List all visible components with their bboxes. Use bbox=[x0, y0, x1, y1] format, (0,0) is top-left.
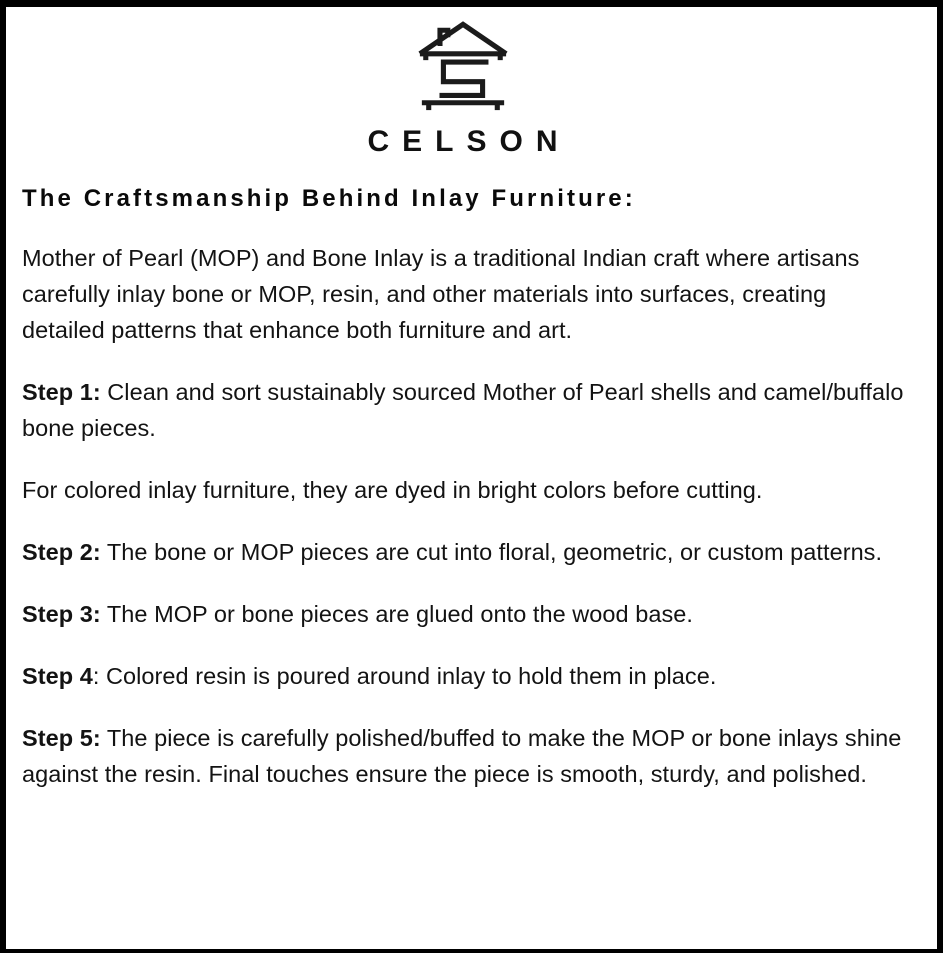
page-title: The Craftsmanship Behind Inlay Furniture… bbox=[22, 185, 909, 214]
poster-card: CELSON The Craftsmanship Behind Inlay Fu… bbox=[0, 0, 943, 953]
step-label-step-3: Step 3: bbox=[22, 601, 101, 627]
paragraph-step-4: Step 4: Colored resin is poured around i… bbox=[22, 658, 909, 694]
body-copy: Mother of Pearl (MOP) and Bone Inlay is … bbox=[22, 240, 909, 792]
step-label-step-1: Step 1: bbox=[22, 379, 101, 405]
step-label-step-2: Step 2: bbox=[22, 539, 101, 565]
paragraph-step-2: Step 2: The bone or MOP pieces are cut i… bbox=[22, 534, 909, 570]
paragraph-intro: Mother of Pearl (MOP) and Bone Inlay is … bbox=[22, 240, 909, 348]
paragraph-step-5: Step 5: The piece is carefully polished/… bbox=[22, 720, 909, 792]
brand-wordmark: CELSON bbox=[16, 127, 909, 157]
step-label-step-4: Step 4 bbox=[22, 663, 93, 689]
paragraph-step-3: Step 3: The MOP or bone pieces are glued… bbox=[22, 596, 909, 632]
paragraph-step-1: Step 1: Clean and sort sustainably sourc… bbox=[22, 374, 909, 446]
house-monogram-logo-icon bbox=[414, 19, 512, 115]
step-label-step-5: Step 5: bbox=[22, 725, 101, 751]
brand-block: CELSON bbox=[16, 15, 909, 157]
poster-inner: CELSON The Craftsmanship Behind Inlay Fu… bbox=[6, 7, 937, 949]
paragraph-dyeing-note: For colored inlay furniture, they are dy… bbox=[22, 472, 909, 508]
